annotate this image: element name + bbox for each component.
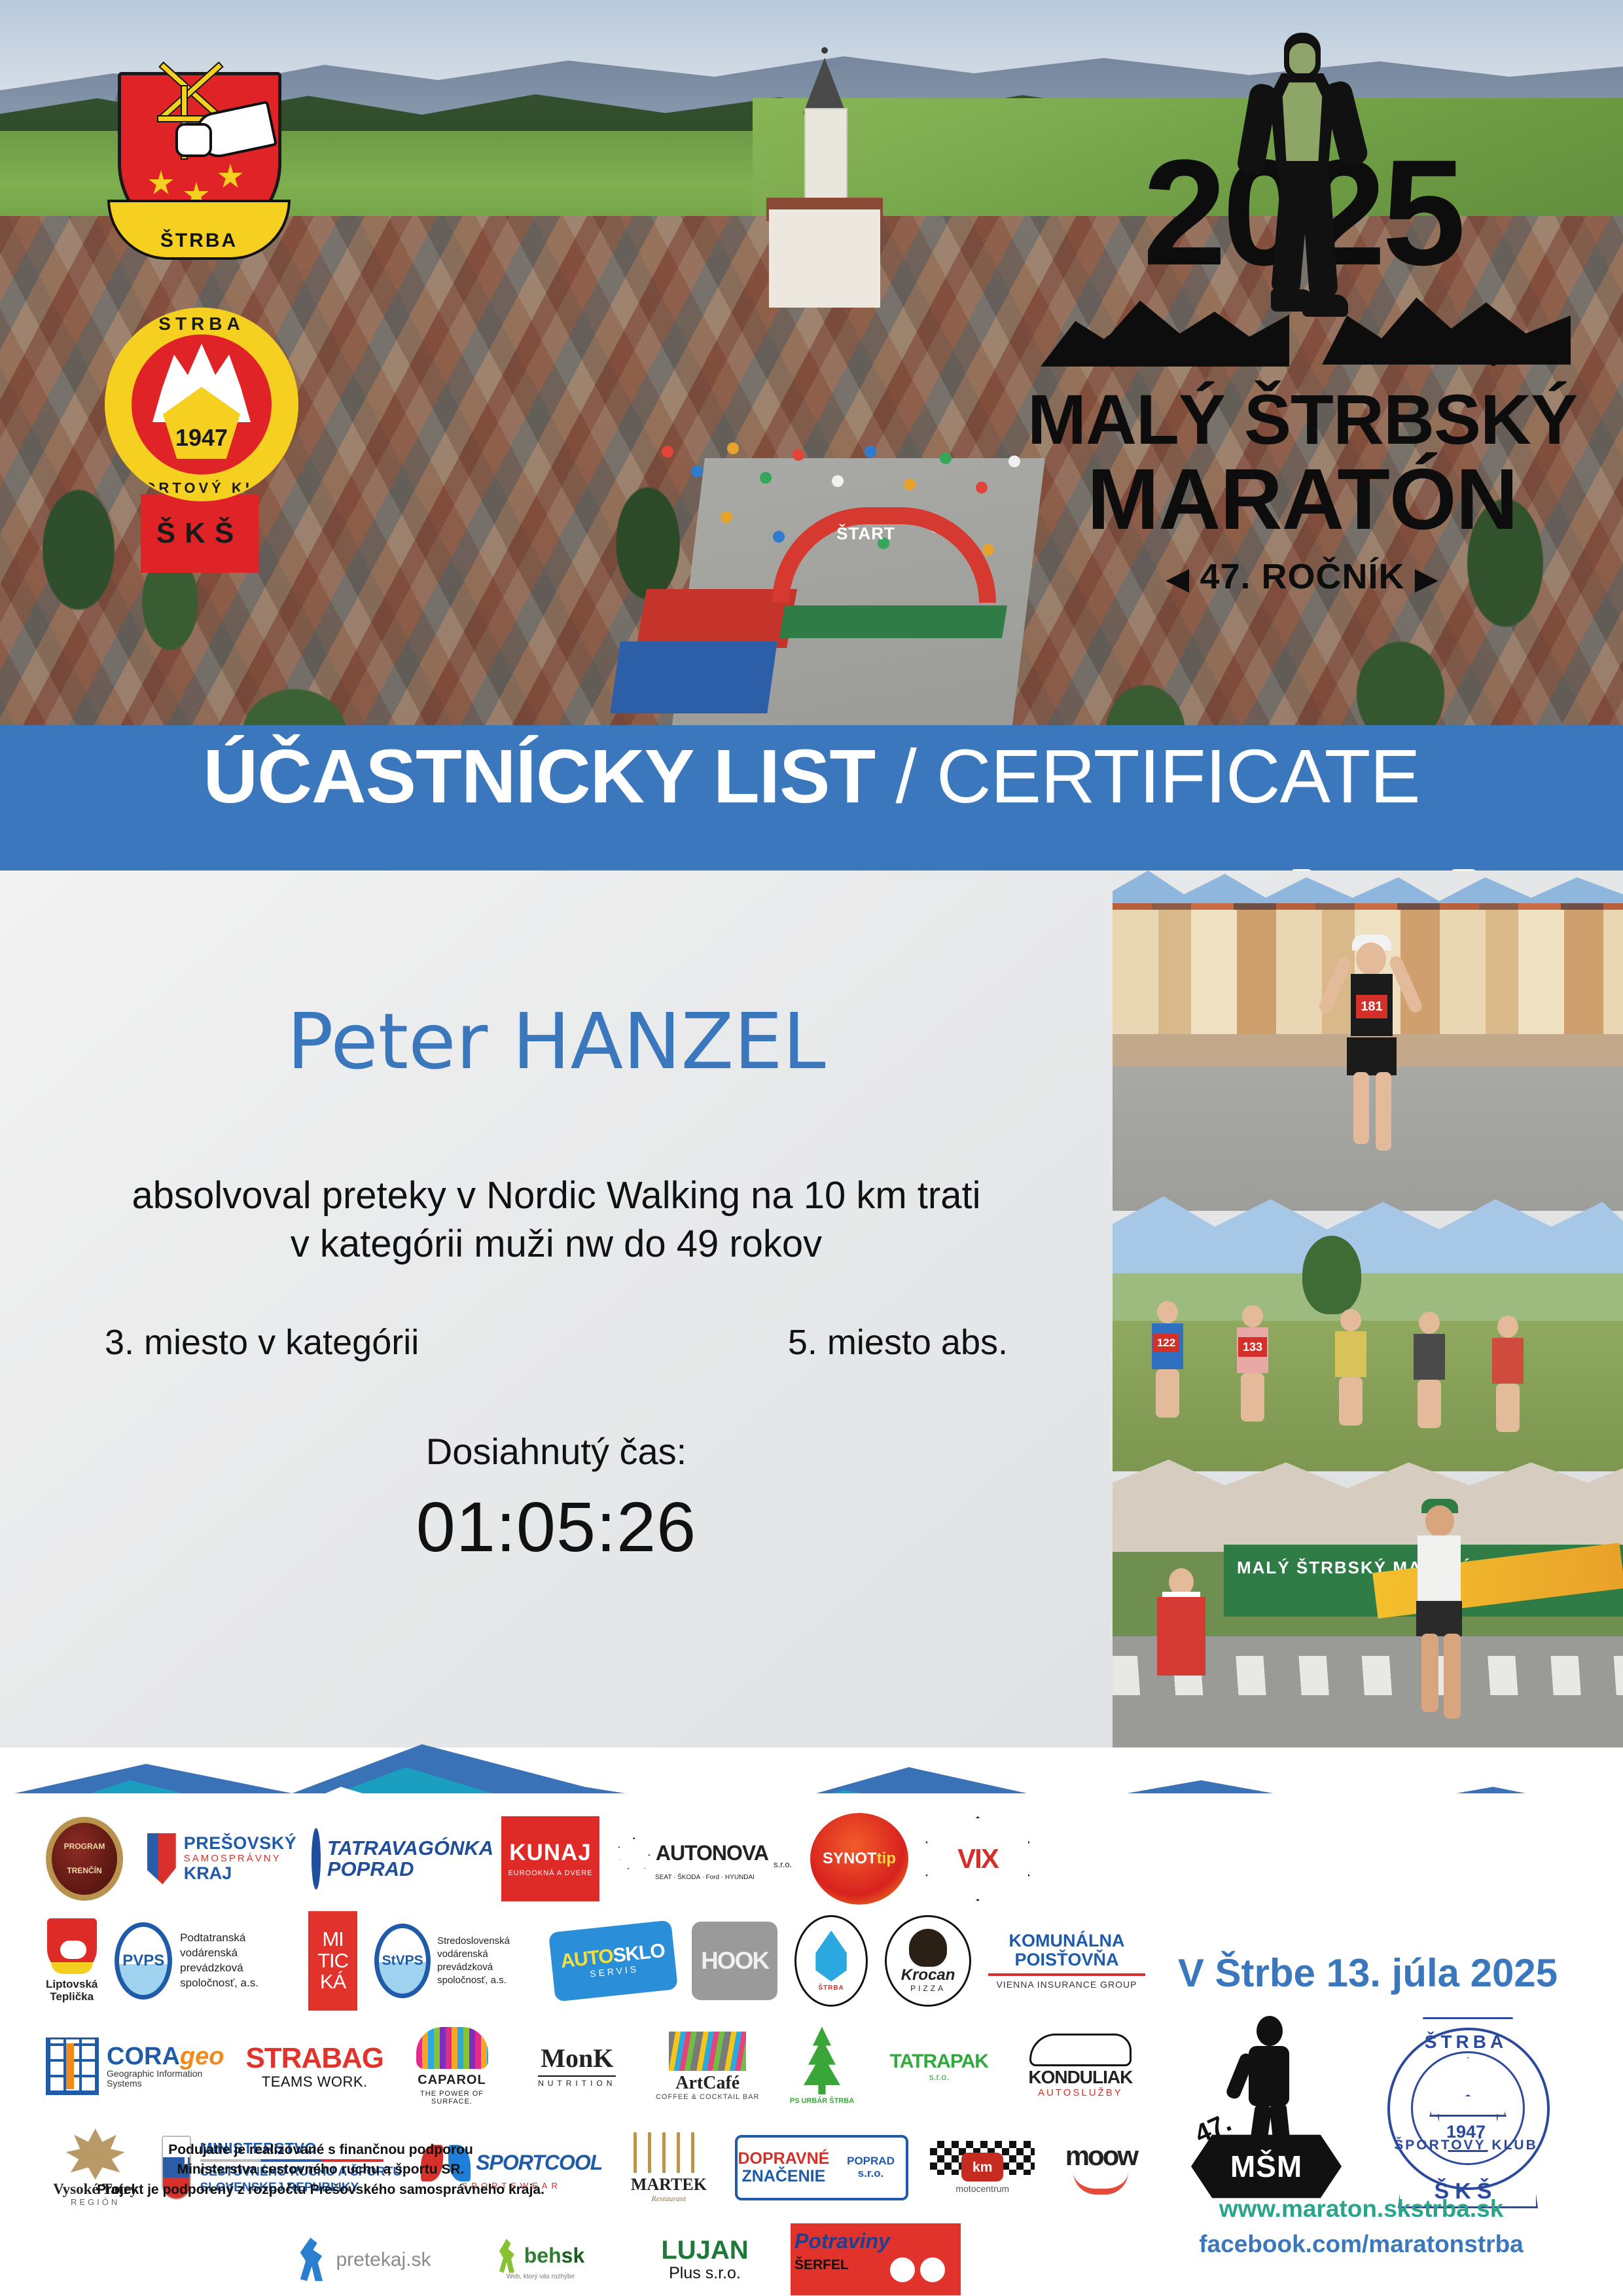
sponsor-label: Teplička xyxy=(46,1990,98,2003)
title-english: / CERTIFICATE xyxy=(875,734,1419,819)
sponsor-caparol: CAPAROL THE POWER OF SURFACE. xyxy=(401,2024,503,2109)
sponsor-vix: VIX xyxy=(925,1816,1030,1901)
participant-name: Peter HANZEL xyxy=(0,1001,1113,1083)
sponsor-label: NUTRITION xyxy=(538,2075,616,2088)
church-icon xyxy=(789,46,861,321)
sponsor-label: ŠERFEL xyxy=(794,2257,849,2272)
sponsor-label: SYNOT xyxy=(823,1850,877,1867)
sponsor-label: PIZZA xyxy=(910,1984,946,1993)
sponsor-label: s.r.o. xyxy=(929,2072,949,2082)
tatravagonka-mark-icon xyxy=(312,1828,321,1890)
event-edition-label: 47. ROČNÍK xyxy=(1200,557,1404,596)
sponsor-tatrapak: TATRAPAK s.r.o. xyxy=(880,2027,999,2106)
funding-support-note: Podujatie je realizované s finančnou pod… xyxy=(85,2140,556,2200)
dot-icon xyxy=(920,2257,945,2282)
photo1-bib-number: 181 xyxy=(1356,995,1387,1018)
divider-rule xyxy=(988,1973,1145,1976)
club-top-label: ŠTRBA xyxy=(107,314,296,334)
sponsor-label: Restaurant xyxy=(652,2195,687,2203)
category-placement: 3. miesto v kategórii xyxy=(105,1322,419,1363)
certificate-page: ŠTART ŠTRBA 1947 ŠTRBA ŠPORTOVÝ KLUB ŠKŠ… xyxy=(0,0,1623,2296)
sponsor-label: Podtatranská vodárenská xyxy=(180,1931,291,1961)
car-icon xyxy=(1029,2034,1132,2066)
sponsor-label: MARTEK xyxy=(631,2176,707,2195)
achievement-description: absolvoval preteky v Nordic Walking na 1… xyxy=(0,1172,1113,1268)
sponsor-label: km xyxy=(961,2153,1003,2181)
sponsor-label: TATRAPAK xyxy=(890,2051,988,2072)
sponsor-lujan-plus: LUJAN Plus s.r.o. xyxy=(636,2220,774,2296)
sponsor-label: ŠTRBA xyxy=(829,2097,854,2105)
sponsor-label: sk xyxy=(562,2244,585,2267)
sponsor-beh-sk: behsk Web, ktorý vás rozhýbe xyxy=(462,2227,619,2292)
issue-date: V Štrbe 13. júla 2025 xyxy=(1171,1950,1564,1996)
sponsor-label: AUTONOVA xyxy=(656,1842,768,1865)
club-bottom-label: ŠPORTOVÝ KLUB xyxy=(107,480,296,497)
cora-grid-icon xyxy=(46,2037,99,2095)
sponsor-komunalna-poistovna: KOMUNÁLNA POISŤOVŇA VIENNA INSURANCE GRO… xyxy=(988,1922,1145,2000)
photo2-bib-number-b: 133 xyxy=(1238,1337,1267,1357)
sponsor-label: prevádzková spoločnosť, a.s. xyxy=(437,1961,535,1988)
sponsor-liptovska-teplicka: Liptovská Teplička xyxy=(46,1918,98,2003)
sponsor-label: POPRAD xyxy=(327,1859,493,1880)
sponsor-presovsky-kraj: PREŠOVSKÝ SAMOSPRÁVNY KRAJ xyxy=(140,1823,304,1895)
sponsor-label: KUNAJ xyxy=(509,1840,592,1866)
sponsor-label: TIC xyxy=(317,1950,348,1972)
description-line-1: absolvoval preteky v Nordic Walking na 1… xyxy=(0,1172,1113,1220)
sponsor-label: THE POWER OF SURFACE. xyxy=(401,2090,503,2106)
sports-club-logo: 1947 ŠTRBA ŠPORTOVÝ KLUB xyxy=(105,308,298,501)
sponsor-label: DOPRAVNÉ xyxy=(738,2150,829,2168)
stvps-badge-icon: StVPS xyxy=(374,1924,431,1998)
sponsor-row-3: CORAgeo Geographic Information Systems S… xyxy=(46,2017,1145,2115)
event-edition: ◀ 47. ROČNÍK ▶ xyxy=(1021,556,1584,597)
sponsor-km-motocentrum: km motocentrum xyxy=(925,2128,1040,2207)
sponsor-label: AUTOSLUŽBY xyxy=(1038,2088,1123,2099)
sponsor-kunaj: KUNAJ EUROOKNÁ A DVERE xyxy=(501,1816,599,1901)
club-official-stamp: ŠTRBA 1947 ŠPORTOVÝ KLUB ŠKŠ xyxy=(1374,2009,1558,2206)
sponsor-tatravagonka-poprad: TATRAVAGÓNKA POPRAD xyxy=(321,1825,484,1893)
msm-runner-icon xyxy=(1229,2016,1308,2153)
artcafe-bars-icon xyxy=(669,2032,746,2071)
blue-tent xyxy=(610,641,777,713)
sponsor-krocan-pizza: Krocan PIZZA xyxy=(885,1915,971,2007)
photo-finishing-runner: 181 xyxy=(1113,870,1623,1211)
sponsor-label: geo xyxy=(180,2043,224,2070)
sponsor-ps-urbar-strba: PS URBÁR ŠTRBA xyxy=(781,2017,863,2115)
sponsor-brands-label: SEAT · ŠKODA · Ford · HYUNDAI xyxy=(655,1874,755,1881)
sponsor-stvps: StVPS Stredoslovenská vodárenská prevádz… xyxy=(374,1919,535,2003)
sponsor-label: TATRAVAGÓNKA xyxy=(327,1838,493,1859)
sponsor-autonova: AUTONOVA s.r.o. SEAT · ŠKODA · Ford · HY… xyxy=(616,1816,793,1901)
crest-banner: ŠTRBA xyxy=(107,200,291,260)
sponsor-label: CORA xyxy=(107,2043,180,2070)
sponsor-label: Stredoslovenská vodárenská xyxy=(437,1935,535,1962)
photo-collage: 181 122 133 MALÝ ŠTRBSKÝ MARATÓN xyxy=(1113,870,1623,1748)
sponsor-label: Potraviny xyxy=(794,2230,890,2253)
stamp-top-label: ŠTRBA xyxy=(1387,2032,1544,2053)
photo2-bib-number-a: 122 xyxy=(1153,1334,1179,1352)
website-url[interactable]: www.maraton.skstrba.sk xyxy=(1158,2195,1564,2223)
sponsor-label: KÁ xyxy=(317,1971,348,1993)
participant-first-name: Peter xyxy=(287,996,488,1086)
sponsor-label: KOMUNÁLNA xyxy=(1009,1931,1125,1950)
elephant-icon xyxy=(416,2027,488,2069)
msm-emblem: 47. MŠM xyxy=(1191,2016,1342,2199)
sponsor-pretekaj-sk: pretekaj.sk xyxy=(281,2227,445,2292)
support-note-line-3: Projekt je podporený z rozpočtu Prešovsk… xyxy=(85,2180,556,2200)
sponsor-label: Liptovská xyxy=(46,1978,98,1991)
sponsor-label: SKLO xyxy=(612,1940,666,1967)
runner-silhouette-icon xyxy=(1237,33,1368,334)
msm-abbrev-label: MŠM xyxy=(1191,2130,1342,2202)
sponsor-label: prevádzková spoločnosť, a.s. xyxy=(180,1961,291,1991)
runner-figure-icon xyxy=(497,2239,519,2273)
sponsor-label: MI xyxy=(317,1929,348,1950)
sponsor-strabag: STRABAG TEAMS WORK. xyxy=(245,2030,383,2102)
sponsor-pvps: PVPS Podtatranská vodárenská prevádzková… xyxy=(115,1922,291,2000)
sponsor-label: KONDULIAK xyxy=(1028,2068,1132,2088)
sponsor-konduliak: KONDULIAK AUTOSLUŽBY xyxy=(1016,2027,1145,2106)
cutlery-icon xyxy=(633,2132,704,2173)
event-name-line1: MALÝ ŠTRBSKÝ xyxy=(1021,386,1584,454)
pvps-badge-icon: PVPS xyxy=(115,1922,172,2000)
sponsor-label: PROGRAM xyxy=(64,1842,105,1851)
sponsor-potraviny-serfel: Potraviny ŠERFEL xyxy=(791,2223,961,2295)
footer: PROGRAM TRENČÍN PREŠOVSKÝ SAMOSPRÁVNY KR… xyxy=(0,1793,1623,2296)
sponsor-label: ZNAČENIE xyxy=(738,2168,829,2186)
sponsor-label: SAMOSPRÁVNY xyxy=(184,1854,297,1865)
sponsor-label: KRAJ xyxy=(184,1864,297,1884)
sponsor-program-trencin: PROGRAM TRENČÍN xyxy=(46,1817,123,1901)
participant-last-name: HANZEL xyxy=(512,996,826,1086)
smile-icon xyxy=(1073,2172,1128,2195)
sponsor-label: TRENČÍN xyxy=(67,1867,101,1875)
support-note-line-2: Ministerstva cestovného ruchu a športu S… xyxy=(85,2160,556,2179)
sponsor-row-2: Liptovská Teplička PVPS Podtatranská vod… xyxy=(46,1911,1145,2011)
crest-municipality-label: ŠTRBA xyxy=(160,230,238,257)
sponsor-label: Plus s.r.o. xyxy=(669,2265,741,2283)
club-abbrev-label: ŠKŠ xyxy=(105,517,294,550)
sponsor-label: POPRAD s.r.o. xyxy=(836,2155,905,2179)
runners-icon xyxy=(295,2238,329,2281)
certificate-title: ÚČASTNÍCKY LIST / CERTIFICATE xyxy=(0,738,1623,814)
water-drop-icon xyxy=(810,1931,853,1982)
sponsor-artcafe: ArtCafé COFFEE & COCKTAIL BAR xyxy=(651,2020,765,2112)
sponsor-label: Web, ktorý vás rozhýbe xyxy=(507,2273,575,2280)
sponsor-label: motocentrum xyxy=(955,2184,1009,2194)
sponsor-row-1: PROGRAM TRENČÍN PREŠOVSKÝ SAMOSPRÁVNY KR… xyxy=(46,1813,1145,1905)
sponsor-label: ŠTRBA xyxy=(818,1984,844,1992)
sponsor-label: Geographic Information Systems xyxy=(107,2069,228,2089)
sponsor-label: STRABAG xyxy=(245,2043,383,2074)
sponsor-monk-nutrition: MonK NUTRITION xyxy=(520,2027,634,2106)
sponsor-martek-restaurant: MARTEK Restaurant xyxy=(619,2125,718,2210)
absolute-placement: 5. miesto abs. xyxy=(788,1322,1008,1363)
placement-row: 3. miesto v kategórii 5. miesto abs. xyxy=(0,1322,1113,1363)
finish-time-value: 01:05:26 xyxy=(0,1486,1113,1568)
description-line-2: v kategórii muži nw do 49 rokov xyxy=(0,1220,1113,1268)
support-note-line-1: Podujatie je realizované s finančnou pod… xyxy=(85,2140,556,2160)
finish-time-label: Dosiahnutý čas: xyxy=(0,1430,1113,1473)
event-name-line2: MARATÓN xyxy=(1021,458,1584,540)
sponsor-label: moow xyxy=(1065,2141,1137,2171)
stamp-arc-label: ŠPORTOVÝ KLUB xyxy=(1387,2138,1544,2153)
sponsor-label: ArtCafé xyxy=(675,2073,740,2094)
sponsor-label: COFFEE & COCKTAIL BAR xyxy=(656,2093,760,2101)
arrow-left-icon: ◀ xyxy=(1167,563,1190,595)
sponsor-label: tip xyxy=(877,1850,896,1867)
sponsor-synot-tip: SYNOTtip xyxy=(810,1813,908,1905)
sponsor-label: PS URBÁR xyxy=(790,2097,827,2105)
club-founded-year: 1947 xyxy=(163,424,240,452)
sponsor-autosklo-servis: AUTOSKLO SERVIS xyxy=(548,1920,678,2001)
sponsor-label: POISŤOVŇA xyxy=(1009,1950,1125,1969)
sponsor-label: EUROOKNÁ A DVERE xyxy=(508,1869,592,1877)
sponsor-pd-strba: ŠTRBA xyxy=(794,1915,868,2007)
sponsor-label: pretekaj.sk xyxy=(336,2249,431,2270)
fist-icon xyxy=(175,123,212,157)
sponsor-dopravne-znacenie-poprad: DOPRAVNÉ ZNAČENIE POPRAD s.r.o. xyxy=(735,2135,908,2200)
strba-coat-of-arms: ŠTRBA xyxy=(118,72,275,262)
sponsor-label: CAPAROL xyxy=(418,2073,486,2087)
burst-icon xyxy=(618,1837,651,1870)
start-arch-label: ŠTART xyxy=(820,524,912,544)
sponsor-label: MonK xyxy=(541,2044,613,2073)
sponsor-corageo: CORAgeo Geographic Information Systems xyxy=(46,2027,228,2106)
psk-flag-icon xyxy=(147,1833,176,1884)
sponsor-hook: HOOK xyxy=(692,1922,777,2000)
sponsor-label: VIX xyxy=(957,1844,998,1874)
sponsor-label: Krocan xyxy=(901,1967,955,1984)
teplicka-shield-icon xyxy=(47,1918,97,1974)
sponsor-label: beh xyxy=(524,2244,562,2267)
sponsor-moow: moow xyxy=(1057,2132,1145,2204)
marathon-logo: 2025 31 km 10 km MALÝ ŠTRBSKÝ MARATÓN ◀ … xyxy=(1021,39,1584,602)
sponsor-miticka: MI TIC KÁ xyxy=(308,1911,357,2011)
sponsor-label: HOOK xyxy=(701,1948,768,1975)
turkey-icon xyxy=(909,1929,947,1967)
photo-trail-runners: 122 133 xyxy=(1113,1196,1623,1471)
sponsor-label: LUJAN xyxy=(661,2236,748,2265)
sponsor-label: VIENNA INSURANCE GROUP xyxy=(997,1980,1137,1990)
sponsor-row-5: pretekaj.sk behsk Web, ktorý vás rozhýbe… xyxy=(281,2220,1145,2296)
dot-icon xyxy=(890,2257,915,2282)
sponsor-label: s.r.o. xyxy=(774,1860,792,1869)
tree-icon xyxy=(799,2026,845,2094)
arrow-right-icon: ▶ xyxy=(1416,563,1438,595)
sponsor-label: PREŠOVSKÝ xyxy=(184,1834,297,1854)
sponsor-label: TEAMS WORK. xyxy=(262,2074,368,2090)
facebook-url[interactable]: facebook.com/maratonstrba xyxy=(1158,2231,1564,2258)
title-slovak: ÚČASTNÍCKY LIST xyxy=(203,734,875,819)
